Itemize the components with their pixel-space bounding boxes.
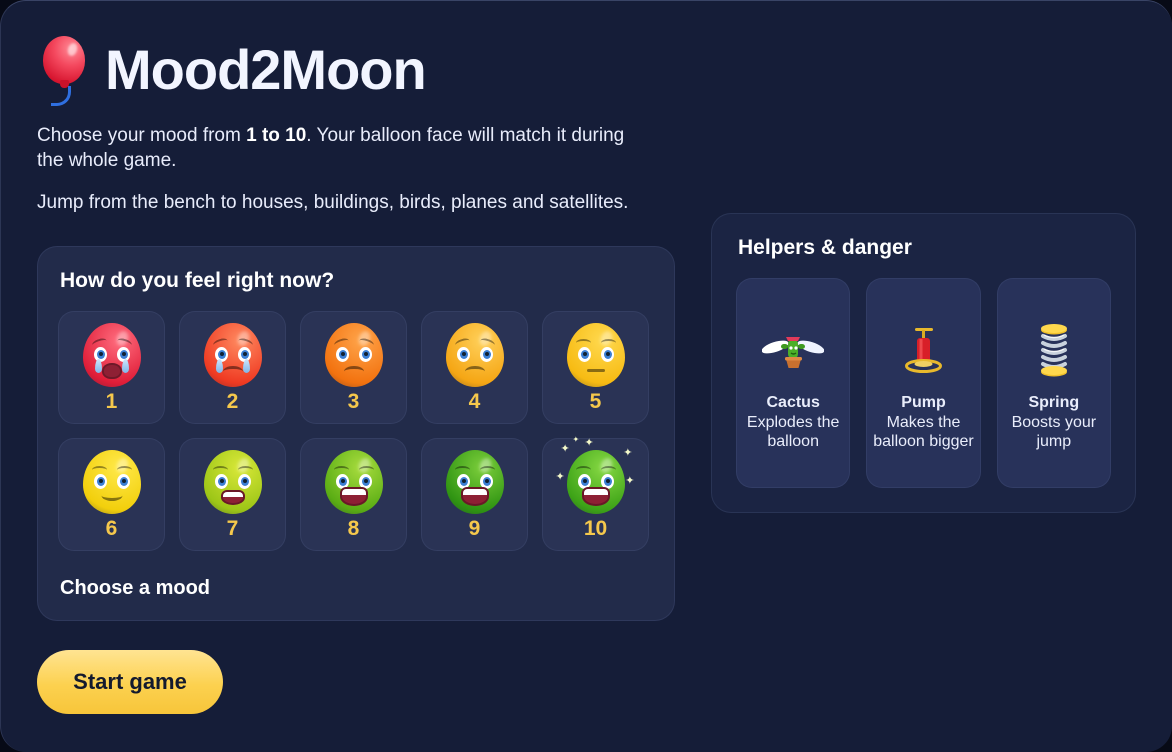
- intro-line-2: Jump from the bench to houses, buildings…: [37, 190, 647, 215]
- mood-option-label: 10: [584, 518, 607, 539]
- mood-selection-card: How do you feel right now? 123456789✦✦✦✦…: [37, 246, 675, 621]
- mood-face-ecstatic-icon: ✦✦✦✦✦✦: [567, 450, 625, 514]
- mood-option-3[interactable]: 3: [300, 311, 407, 424]
- balloon-icon: [37, 34, 91, 106]
- helper-desc: Makes the balloon bigger: [873, 414, 974, 451]
- mood-option-label: 2: [227, 391, 239, 412]
- helper-name: Pump: [867, 393, 979, 413]
- helper-text: PumpMakes the balloon bigger: [867, 393, 979, 452]
- mood-option-5[interactable]: 5: [542, 311, 649, 424]
- helper-tile-pump[interactable]: PumpMakes the balloon bigger: [866, 278, 980, 488]
- mood-option-9[interactable]: 9: [421, 438, 528, 551]
- mood-face-unhappy-icon: [325, 323, 383, 387]
- mood-hint: Choose a mood: [60, 577, 210, 600]
- intro-text-a: Choose your mood from: [37, 125, 246, 146]
- mood-face-joyful-icon: [446, 450, 504, 514]
- mood-face-slightly-sad-icon: [446, 323, 504, 387]
- mood-face-happy-icon: [204, 450, 262, 514]
- mood-option-6[interactable]: 6: [58, 438, 165, 551]
- mood-option-4[interactable]: 4: [421, 311, 528, 424]
- pump-icon: [899, 323, 947, 379]
- intro-line-1: Choose your mood from 1 to 10. Your ball…: [37, 123, 647, 174]
- mood-option-label: 7: [227, 518, 239, 539]
- mood-option-label: 8: [348, 518, 360, 539]
- mood-option-label: 6: [106, 518, 118, 539]
- mood-option-1[interactable]: 1: [58, 311, 165, 424]
- mood-option-label: 4: [469, 391, 481, 412]
- mood-grid: 123456789✦✦✦✦✦✦10: [58, 311, 654, 551]
- helpers-heading: Helpers & danger: [738, 236, 1111, 260]
- helper-name: Spring: [998, 393, 1110, 413]
- start-game-button[interactable]: Start game: [37, 650, 223, 714]
- mood-face-content-icon: [83, 450, 141, 514]
- helpers-row: CactusExplodes the balloon PumpMakes the…: [736, 278, 1111, 488]
- mood-face-sad-icon: [204, 323, 262, 387]
- header: Mood2Moon Choose your mood from 1 to 10.…: [37, 33, 697, 215]
- mood-option-2[interactable]: 2: [179, 311, 286, 424]
- mood-option-7[interactable]: 7: [179, 438, 286, 551]
- mood-option-label: 3: [348, 391, 360, 412]
- mood-option-10[interactable]: ✦✦✦✦✦✦10: [542, 438, 649, 551]
- page-title: Mood2Moon: [105, 42, 426, 98]
- mood-face-crying-icon: [83, 323, 141, 387]
- page-frame: Mood2Moon Choose your mood from 1 to 10.…: [0, 0, 1172, 752]
- mood-option-label: 9: [469, 518, 481, 539]
- helper-tile-spring[interactable]: SpringBoosts your jump: [997, 278, 1111, 488]
- mood-face-very-happy-icon: [325, 450, 383, 514]
- helper-name: Cactus: [737, 393, 849, 413]
- helper-desc: Explodes the balloon: [747, 414, 840, 451]
- helper-text: SpringBoosts your jump: [998, 393, 1110, 452]
- intro-range: 1 to 10: [246, 125, 306, 146]
- helpers-panel: Helpers & danger CactusExplodes the ball…: [711, 213, 1136, 513]
- helper-text: CactusExplodes the balloon: [737, 393, 849, 452]
- mood-card-heading: How do you feel right now?: [60, 269, 654, 293]
- helper-tile-cactus[interactable]: CactusExplodes the balloon: [736, 278, 850, 488]
- mood-option-label: 1: [106, 391, 118, 412]
- helper-desc: Boosts your jump: [1012, 414, 1096, 451]
- mood-face-neutral-icon: [567, 323, 625, 387]
- title-row: Mood2Moon: [37, 33, 697, 107]
- mood-option-8[interactable]: 8: [300, 438, 407, 551]
- flying-cactus-icon: [762, 323, 824, 379]
- spring-icon: [1034, 323, 1074, 379]
- mood-option-label: 5: [590, 391, 602, 412]
